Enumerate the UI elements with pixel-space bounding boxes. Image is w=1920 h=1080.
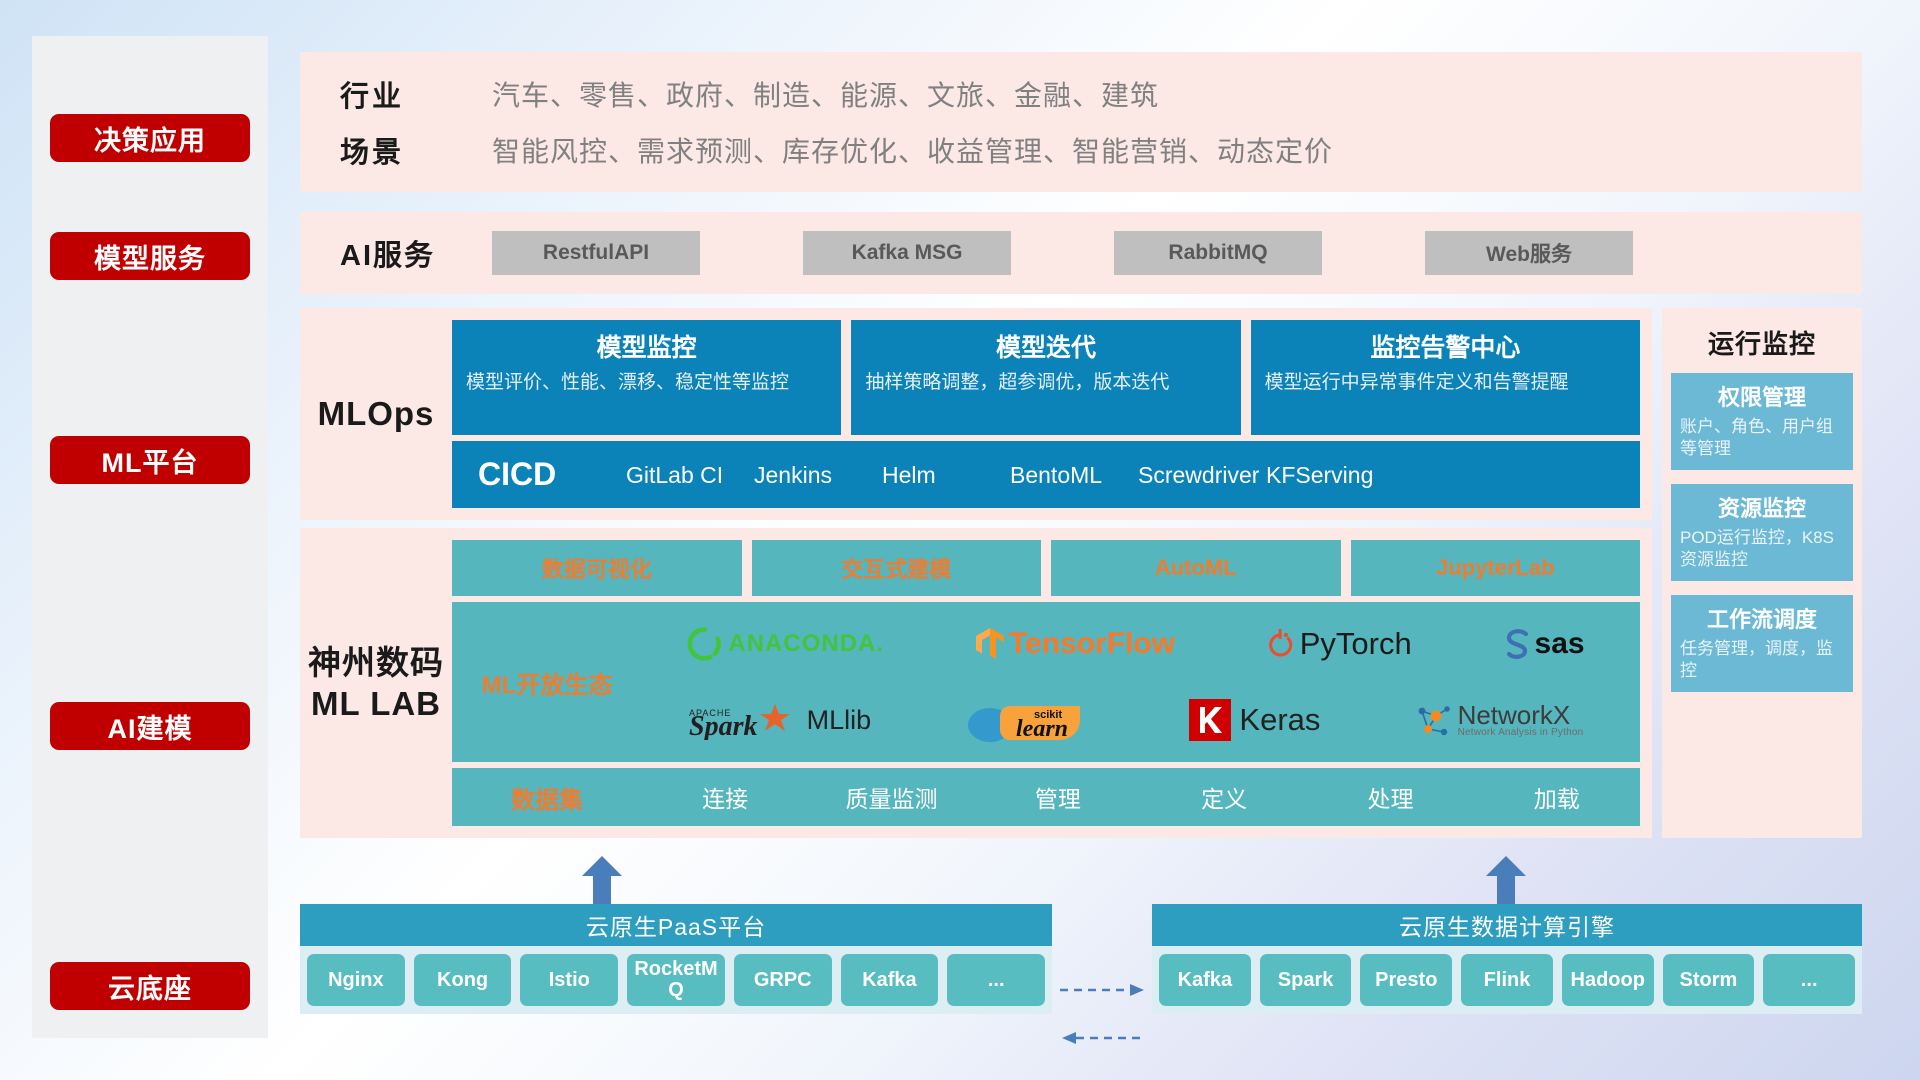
service-box-kafka-msg[interactable]: Kafka MSG [803, 231, 1011, 275]
logo-row-1: ANACONDA. TensorFlow [642, 608, 1630, 680]
scikit-learn-icon: scikit learn [964, 696, 1096, 744]
anaconda-icon [687, 626, 723, 662]
rail-chip-decision-app[interactable]: 决策应用 [50, 114, 250, 162]
industry-row: 行业 汽车、零售、政府、制造、能源、文旅、金融、建筑 [340, 66, 1862, 122]
cloud-native-paas-group: 云原生PaaS平台 Nginx Kong Istio RocketMQ GRPC… [300, 904, 1052, 1014]
chip-presto[interactable]: Presto [1360, 954, 1452, 1006]
mlops-card-model-iteration[interactable]: 模型迭代 抽样策略调整，超参调优，版本迭代 [851, 320, 1240, 435]
card-desc: 模型运行中异常事件定义和告警提醒 [1265, 370, 1626, 395]
model-service-band: AI服务 RestfulAPI Kafka MSG RabbitMQ Web服务 [300, 212, 1862, 294]
connector-arrow-right [1060, 983, 1146, 997]
cicd-bar: CICD GitLab CI Jenkins Helm BentoML Scre… [452, 441, 1640, 508]
lab-tool-group: 数据可视化 交互式建模 AutoML JupyterLab [452, 540, 1640, 596]
cloud-native-data-engine-group: 云原生数据计算引擎 Kafka Spark Presto Flink Hadoo… [1152, 904, 1862, 1014]
networkx-icon [1414, 701, 1454, 739]
ml-lab-label-line2: ML LAB [308, 683, 444, 724]
anaconda-logo: ANACONDA. [687, 626, 884, 662]
architecture-stack: 行业 汽车、零售、政府、制造、能源、文旅、金融、建筑 场景 智能风控、需求预测、… [300, 36, 1888, 1038]
rail-chip-label: ML平台 [102, 441, 199, 480]
ml-platform-band: MLOps 模型监控 模型评价、性能、漂移、稳定性等监控 模型迭代 抽样策略调整… [300, 308, 1652, 520]
dataset-label: 数据集 [452, 780, 642, 815]
mlops-card-alert-center[interactable]: 监控告警中心 模型运行中异常事件定义和告警提醒 [1251, 320, 1640, 435]
industry-list: 汽车、零售、政府、制造、能源、文旅、金融、建筑 [492, 74, 1159, 114]
cicd-item-screwdriver[interactable]: Screwdriver [1138, 463, 1266, 487]
mllib-wordmark: MLlib [807, 705, 872, 736]
scenario-list: 智能风控、需求预测、库存优化、收益管理、智能营销、动态定价 [492, 130, 1333, 170]
dataset-item-connect[interactable]: 连接 [642, 780, 808, 814]
logo-row-2: APACHE Spark MLlib scikit [642, 684, 1630, 756]
up-arrow-icon-paas [580, 856, 624, 904]
service-box-restfulapi[interactable]: RestfulAPI [492, 231, 700, 275]
dataset-item-load[interactable]: 加载 [1474, 780, 1640, 814]
decision-application-band: 行业 汽车、零售、政府、制造、能源、文旅、金融、建筑 场景 智能风控、需求预测、… [300, 52, 1862, 192]
cicd-item-bentoml[interactable]: BentoML [1010, 463, 1138, 487]
dataset-item-quality-monitoring[interactable]: 质量监测 [808, 780, 974, 814]
chip-kafka[interactable]: Kafka [1159, 954, 1251, 1006]
spark-icon: APACHE Spark [689, 700, 801, 740]
card-title: 模型迭代 [865, 328, 1226, 364]
chip-flink[interactable]: Flink [1461, 954, 1553, 1006]
rail-chip-model-service[interactable]: 模型服务 [50, 232, 250, 280]
ml-lab-label-line1: 神州数码 [308, 642, 444, 683]
lab-tool-interactive-modeling[interactable]: 交互式建模 [752, 540, 1042, 596]
tensorflow-wordmark: TensorFlow [1009, 627, 1175, 661]
card-title: 权限管理 [1680, 380, 1844, 412]
service-box-rabbitmq[interactable]: RabbitMQ [1114, 231, 1322, 275]
keras-logo: Keras [1189, 699, 1320, 741]
chip-spark[interactable]: Spark [1260, 954, 1352, 1006]
card-desc: 账户、角色、用户组等管理 [1680, 416, 1844, 461]
lab-tool-automl[interactable]: AutoML [1051, 540, 1341, 596]
chip-more[interactable]: ... [947, 954, 1045, 1006]
scikit-learn-logo: scikit learn [964, 696, 1096, 744]
lab-tool-data-visualization[interactable]: 数据可视化 [452, 540, 742, 596]
dataset-row: 数据集 连接 质量监测 管理 定义 处理 加载 [452, 768, 1640, 826]
rail-chip-label: 决策应用 [94, 119, 206, 158]
monitor-card-workflow-scheduling[interactable]: 工作流调度 任务管理，调度，监控 [1671, 595, 1853, 692]
scenario-label: 场景 [340, 129, 492, 171]
ai-service-label: AI服务 [340, 232, 492, 274]
sas-logo: sas [1503, 627, 1585, 661]
ml-lab-body: 数据可视化 交互式建模 AutoML JupyterLab ML开放生态 ANA… [452, 540, 1640, 826]
dataset-item-manage[interactable]: 管理 [975, 780, 1141, 814]
layer-rail: 决策应用 模型服务 ML平台 AI建模 云底座 [32, 36, 268, 1038]
svg-text:Spark: Spark [689, 711, 757, 740]
chip-istio[interactable]: Istio [520, 954, 618, 1006]
sas-icon [1503, 627, 1533, 661]
spark-mllib-logo: APACHE Spark MLlib [689, 700, 872, 740]
mlops-body: 模型监控 模型评价、性能、漂移、稳定性等监控 模型迭代 抽样策略调整，超参调优，… [452, 320, 1640, 508]
up-arrow-icon-data-engine [1484, 856, 1528, 904]
card-title: 监控告警中心 [1265, 328, 1626, 364]
dataset-item-define[interactable]: 定义 [1141, 780, 1307, 814]
chip-kafka[interactable]: Kafka [841, 954, 939, 1006]
cloud-paas-chip-group: Nginx Kong Istio RocketMQ GRPC Kafka ... [300, 946, 1052, 1014]
monitor-card-resource-monitoring[interactable]: 资源监控 POD运行监控，K8S资源监控 [1671, 484, 1853, 581]
rail-chip-cloud-base[interactable]: 云底座 [50, 962, 250, 1010]
keras-icon [1189, 699, 1231, 741]
pytorch-wordmark: PyTorch [1300, 626, 1412, 662]
card-title: 资源监控 [1680, 491, 1844, 523]
sas-wordmark: sas [1535, 627, 1585, 661]
lab-tool-jupyterlab[interactable]: JupyterLab [1351, 540, 1641, 596]
mlops-card-group: 模型监控 模型评价、性能、漂移、稳定性等监控 模型迭代 抽样策略调整，超参调优，… [452, 320, 1640, 435]
ml-lab-label: 神州数码 ML LAB [300, 540, 452, 826]
pytorch-icon [1266, 627, 1294, 661]
networkx-logo: NetworkX Network Analysis in Python [1414, 701, 1584, 739]
ai-modeling-band: 神州数码 ML LAB 数据可视化 交互式建模 AutoML JupyterLa… [300, 528, 1652, 838]
mlops-card-model-monitoring[interactable]: 模型监控 模型评价、性能、漂移、稳定性等监控 [452, 320, 841, 435]
cicd-item-gitlab-ci[interactable]: GitLab CI [626, 463, 754, 487]
svg-text:learn: learn [1016, 716, 1068, 742]
rail-chip-ai-modeling[interactable]: AI建模 [50, 702, 250, 750]
ml-open-ecosystem-row: ML开放生态 ANACONDA. [452, 602, 1640, 762]
cloud-paas-header: 云原生PaaS平台 [300, 904, 1052, 946]
chip-nginx[interactable]: Nginx [307, 954, 405, 1006]
cloud-data-engine-header: 云原生数据计算引擎 [1152, 904, 1862, 946]
card-title: 模型监控 [466, 328, 827, 364]
rail-chip-ml-platform[interactable]: ML平台 [50, 436, 250, 484]
mlops-label: MLOps [300, 320, 452, 508]
service-box-web-service[interactable]: Web服务 [1425, 231, 1633, 275]
cicd-item-kfserving[interactable]: KFServing [1266, 463, 1394, 487]
card-desc: 模型评价、性能、漂移、稳定性等监控 [466, 370, 827, 395]
monitor-card-permission-management[interactable]: 权限管理 账户、角色、用户组等管理 [1671, 373, 1853, 470]
card-desc: POD运行监控，K8S资源监控 [1680, 527, 1844, 572]
industry-label: 行业 [340, 73, 492, 115]
chip-grpc[interactable]: GRPC [734, 954, 832, 1006]
ecosystem-logo-grid: ANACONDA. TensorFlow [642, 602, 1640, 762]
runtime-monitoring-panel: 运行监控 权限管理 账户、角色、用户组等管理 资源监控 POD运行监控，K8S资… [1662, 308, 1862, 838]
card-title: 工作流调度 [1680, 602, 1844, 634]
rail-chip-label: 模型服务 [94, 237, 206, 276]
tensorflow-icon [975, 626, 1005, 662]
ai-service-box-group: RestfulAPI Kafka MSG RabbitMQ Web服务 [492, 231, 1633, 275]
chip-storm[interactable]: Storm [1663, 954, 1755, 1006]
dataset-item-process[interactable]: 处理 [1307, 780, 1473, 814]
runtime-monitoring-title: 运行监控 [1671, 324, 1853, 361]
cicd-label: CICD [478, 456, 626, 493]
cicd-item-helm[interactable]: Helm [882, 463, 1010, 487]
chip-rocketmq[interactable]: RocketMQ [627, 954, 725, 1006]
ml-open-ecosystem-label: ML开放生态 [452, 665, 642, 700]
chip-hadoop[interactable]: Hadoop [1562, 954, 1654, 1006]
card-desc: 任务管理，调度，监控 [1680, 638, 1844, 683]
cloud-data-engine-chip-group: Kafka Spark Presto Flink Hadoop Storm ..… [1152, 946, 1862, 1014]
cicd-item-jenkins[interactable]: Jenkins [754, 463, 882, 487]
chip-kong[interactable]: Kong [414, 954, 512, 1006]
connector-arrow-left [1060, 1031, 1146, 1045]
scenario-row: 场景 智能风控、需求预测、库存优化、收益管理、智能营销、动态定价 [340, 122, 1862, 178]
rail-chip-label: AI建模 [108, 707, 193, 746]
chip-more[interactable]: ... [1763, 954, 1855, 1006]
rail-chip-label: 云底座 [108, 967, 192, 1006]
card-desc: 抽样策略调整，超参调优，版本迭代 [865, 370, 1226, 395]
pytorch-logo: PyTorch [1266, 626, 1412, 662]
keras-wordmark: Keras [1239, 702, 1320, 738]
networkx-tagline: Network Analysis in Python [1458, 728, 1584, 738]
networkx-wordmark: NetworkX [1458, 702, 1584, 728]
tensorflow-logo: TensorFlow [975, 626, 1175, 662]
anaconda-wordmark: ANACONDA. [728, 630, 884, 658]
